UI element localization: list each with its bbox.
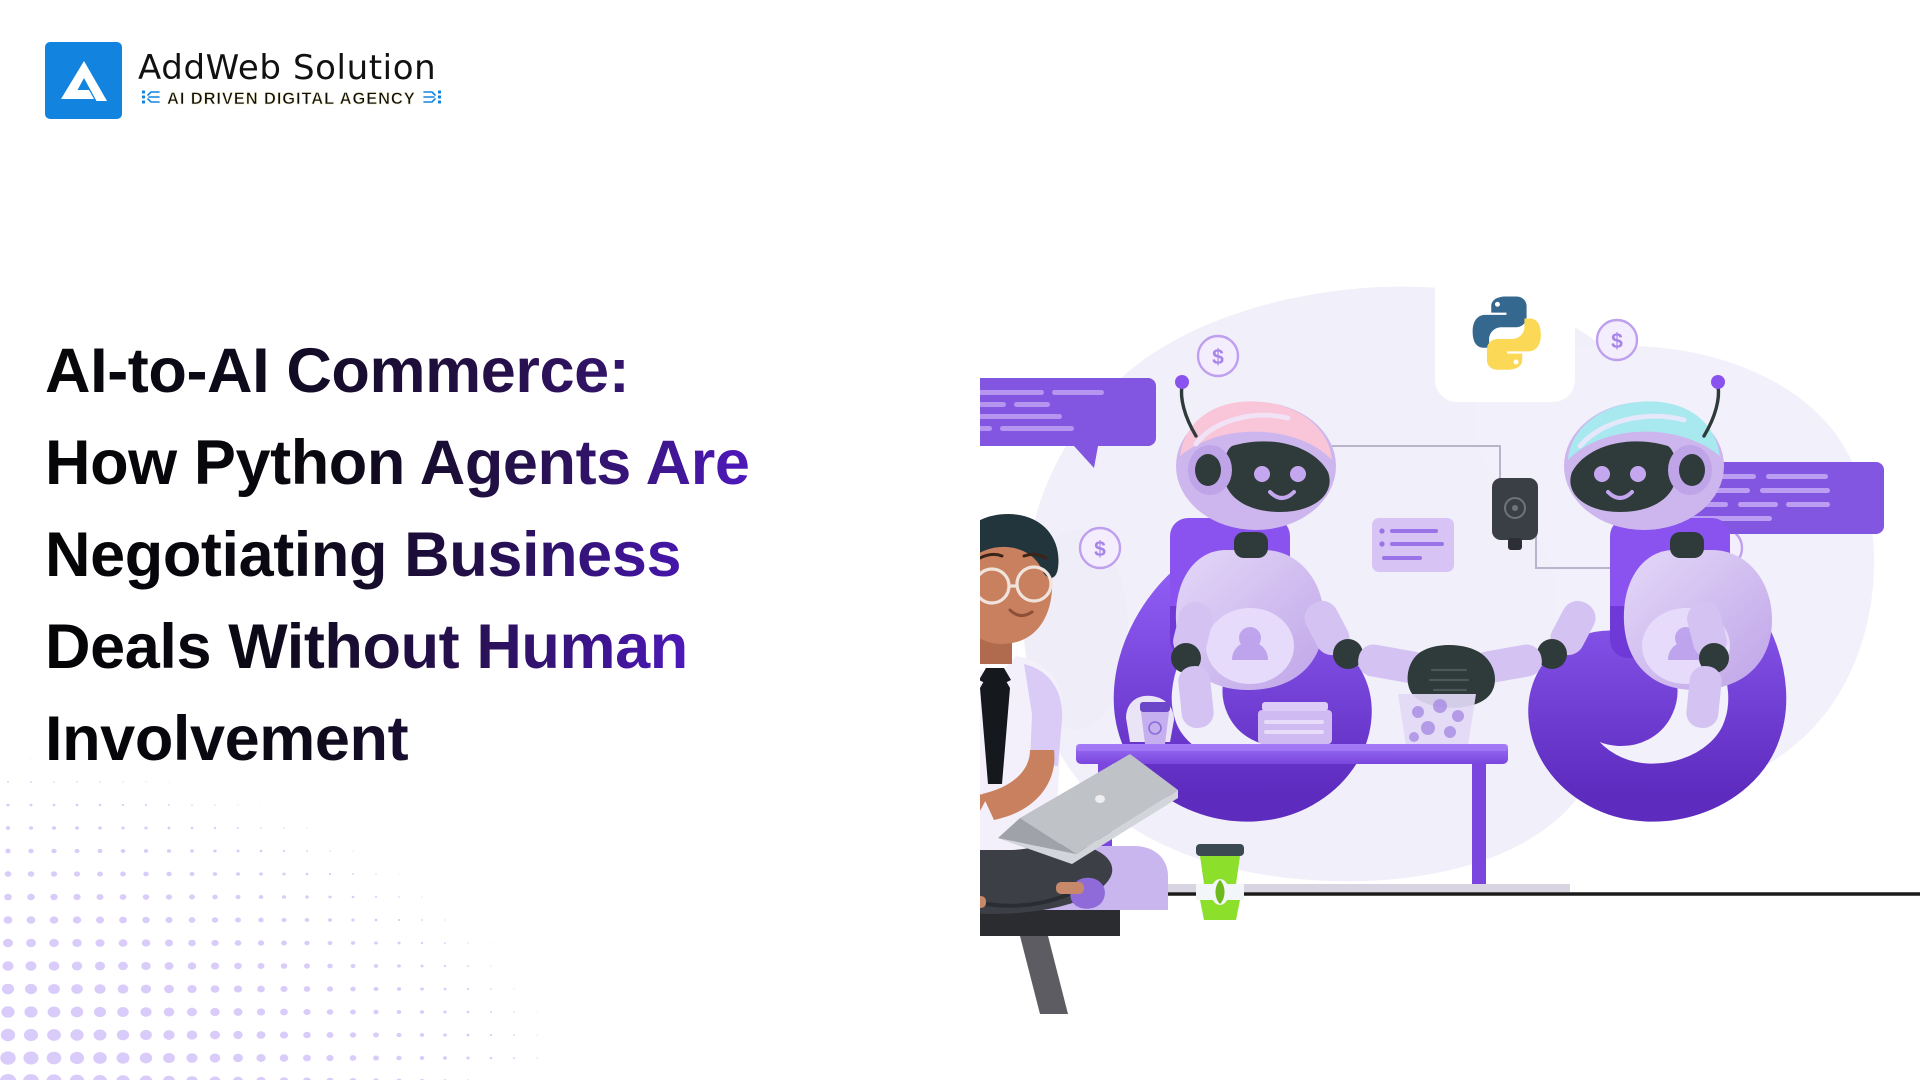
chair-leg [1020,936,1068,1014]
coffee-cup-on-table [1126,696,1174,744]
brand-name: AddWeb Solution [138,51,443,87]
brand-tagline-row: AI DRIVEN DIGITAL AGENCY [138,89,443,110]
dollar-coin: $ [1198,336,1238,376]
dollar-coin: $ [1597,320,1637,360]
coffee-bean-icon [1211,879,1229,905]
headline-line-3: Negotiating Business [45,509,965,601]
brand-logo[interactable]: AddWeb Solution [45,42,443,119]
cookie-jar-on-table [1398,694,1476,746]
dollar-coin: $ [1080,528,1120,568]
svg-text:$: $ [1212,346,1224,369]
addweb-triangle-logo-icon [45,42,122,119]
paper-stack-on-table [1258,702,1332,744]
banner-page: AddWeb Solution [0,0,1920,1080]
python-logo-card [1435,262,1575,402]
data-card [1372,518,1454,572]
circuit-icon [423,89,443,110]
floor-shelf [1100,884,1570,892]
page-title: AI-to-AI Commerce: How Python Agents Are… [45,325,965,785]
headline-line-4: Deals Without Human [45,601,965,693]
circuit-icon [140,89,160,110]
usb-connector-icon [1492,478,1538,550]
headline-line-1: AI-to-AI Commerce: [45,325,965,417]
brand-tagline: AI DRIVEN DIGITAL AGENCY [167,90,416,109]
svg-text:$: $ [1094,538,1106,561]
headline-line-2: How Python Agents Are [45,417,965,509]
svg-text:$: $ [1611,330,1623,353]
headline-line-5: Involvement [45,693,965,785]
takeaway-coffee-cup [1196,844,1244,920]
ai-to-ai-robot-handshake-illustration: $ $ $ $ [980,250,1920,1080]
